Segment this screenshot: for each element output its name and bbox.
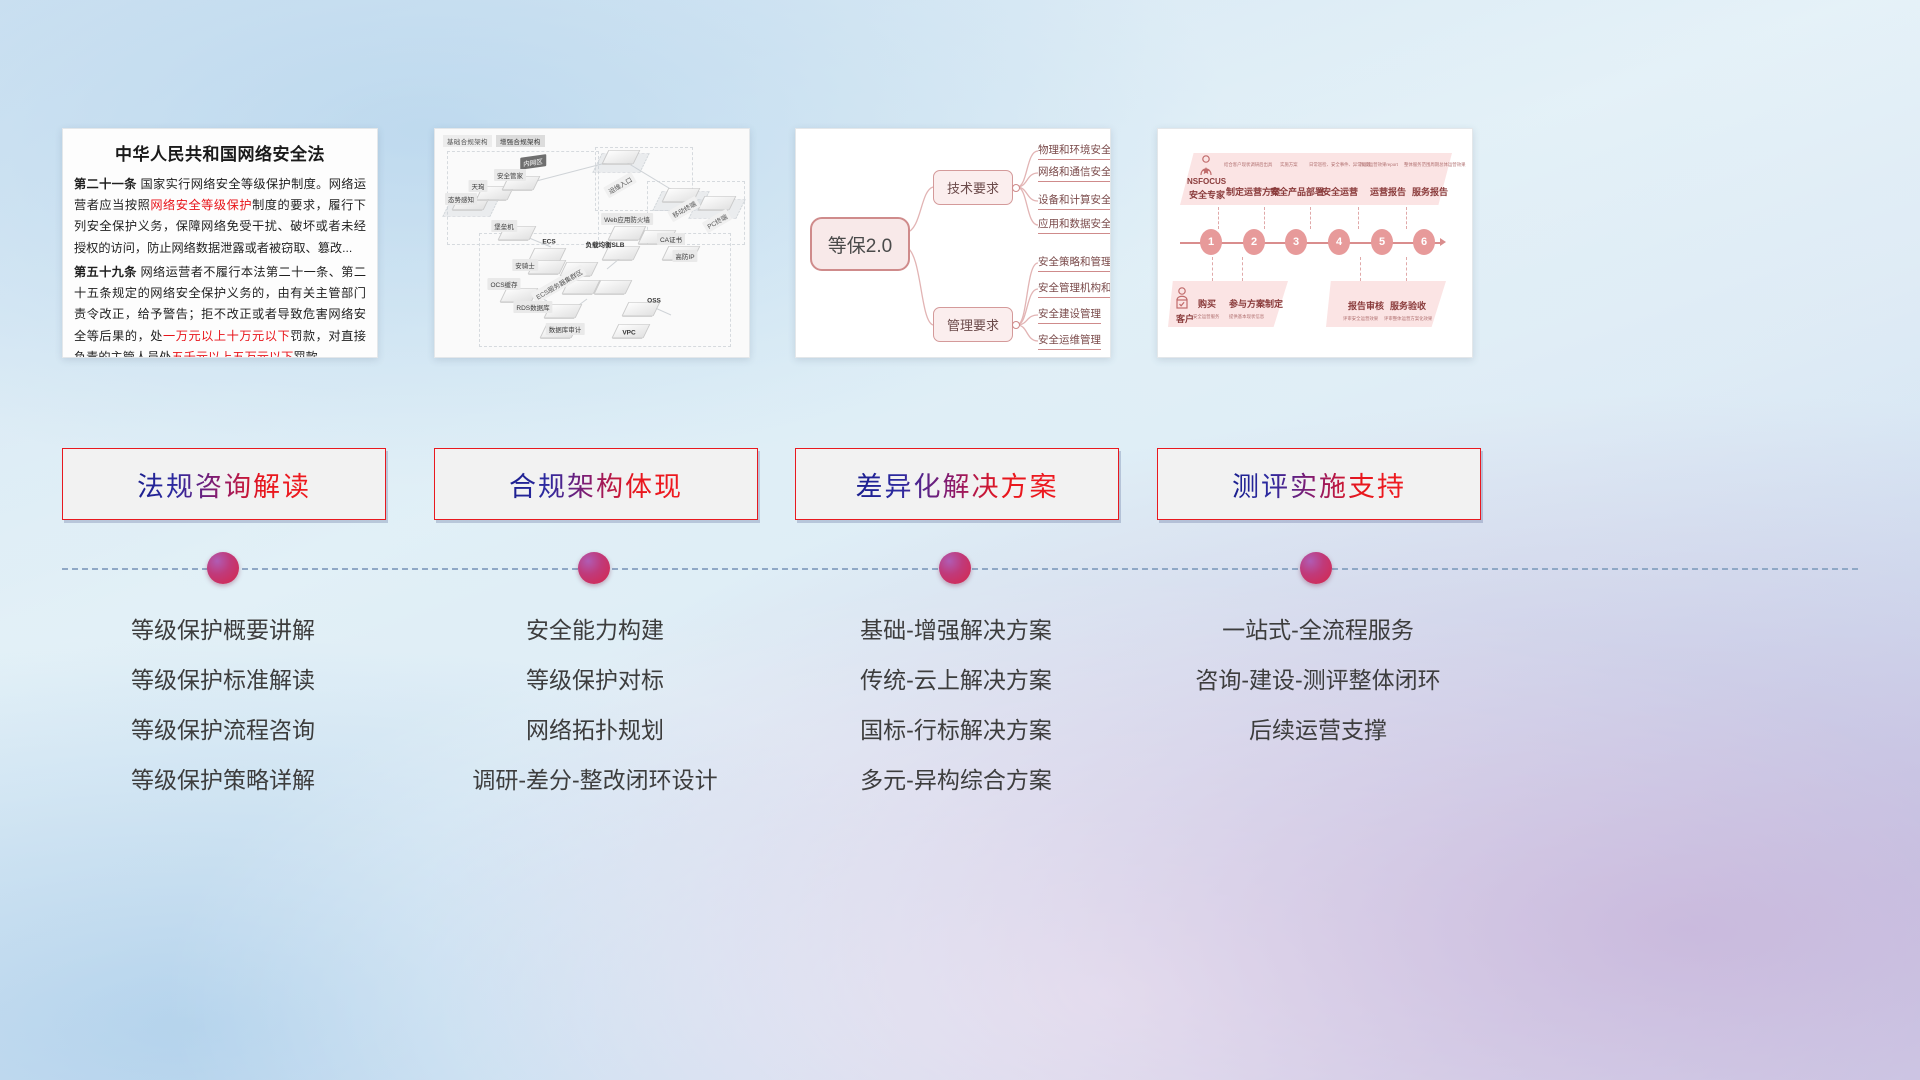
banner-label-2: 合规架构体现	[509, 465, 683, 504]
card-cybersecurity-law: 中华人民共和国网络安全法 第二十一条 国家实行网络安全等级保护制度。网络运营者应…	[62, 128, 378, 358]
card-service-timeline: NSFOCUS 安全专家 结合客户现状调研后出具 制定运营方案 实施方案 安全产…	[1157, 128, 1473, 358]
timeline-step-1[interactable]: 1	[1200, 229, 1222, 255]
architecture-diagram: 基础合规架构增强合规架构	[435, 129, 749, 357]
connector-dash-7	[1242, 257, 1244, 281]
banner-compliance-architecture[interactable]: 合规架构体现	[434, 448, 758, 520]
list-item: 后续运营支撑	[1128, 705, 1508, 755]
expert-sub-2: 实施方案	[1280, 162, 1298, 168]
article-number-59: 第五十九条	[74, 265, 137, 279]
customer-sub-1: 安全运营服务	[1193, 314, 1219, 320]
connector-dash-5	[1406, 207, 1408, 229]
node-label-ocs-cache: OCS缓存	[487, 278, 520, 290]
mindmap-leaf-construction-mgmt: 安全建设管理	[1038, 306, 1101, 324]
expert-sub-4: 阶段运营效果report	[1360, 162, 1398, 168]
mindmap-root: 等保2.0	[810, 217, 910, 271]
expert-big-2: 安全产品部署	[1270, 185, 1324, 198]
mindmap-leaf-physical-env: 物理和环境安全	[1038, 142, 1111, 160]
expert-big-5: 服务报告	[1412, 185, 1448, 198]
connector-dash-3	[1310, 207, 1312, 229]
connector-dash-9	[1406, 257, 1408, 281]
axis-marker-4	[1300, 552, 1332, 584]
article-21-highlight: 网络安全等级保护	[150, 198, 252, 212]
list-item: 安全能力构建	[405, 605, 785, 655]
banner-differentiated-solution[interactable]: 差异化解决方案	[795, 448, 1119, 520]
list-item: 一站式-全流程服务	[1128, 605, 1508, 655]
list-item: 基础-增强解决方案	[766, 605, 1146, 655]
node-label-tianxun: 天珣	[469, 180, 488, 192]
list-item: 多元-异构综合方案	[766, 755, 1146, 805]
mindmap: 等保2.0 技术要求 管理要求 物理和环境安全 网络和通信安全 设备和计算安全 …	[796, 129, 1110, 357]
law-article-59: 第五十九条 网络运营者不履行本法第二十一条、第二十五条规定的网络安全保护义务的，…	[74, 262, 366, 358]
law-body: 第二十一条 国家实行网络安全等级保护制度。网络运营者应当按照网络安全等级保护制度…	[63, 174, 377, 358]
mindmap-leaf-app-data: 应用和数据安全	[1038, 216, 1111, 234]
connector-dash-1	[1218, 207, 1220, 229]
card-compliance-architecture: 基础合规架构增强合规架构	[434, 128, 750, 358]
connector-dash-4	[1358, 207, 1360, 229]
collapse-toggle-technical-icon[interactable]	[1012, 184, 1020, 192]
card-dengbao-mindmap: 等保2.0 技术要求 管理要求 物理和环境安全 网络和通信安全 设备和计算安全 …	[795, 128, 1111, 358]
article-59-after: 罚款。	[293, 350, 330, 358]
banner-label-4: 测评实施支持	[1232, 465, 1406, 504]
banner-label-3: 差异化解决方案	[856, 465, 1059, 504]
connector-dash-8	[1360, 257, 1362, 281]
timeline-arrow-icon	[1440, 238, 1446, 246]
customer-big-4: 服务验收	[1390, 299, 1426, 312]
node-label-anti-ddos-ip: 高防IP	[672, 250, 697, 262]
expert-sub-1: 结合客户现状调研后出具	[1224, 162, 1272, 168]
mindmap-leaf-device-compute: 设备和计算安全	[1038, 192, 1111, 210]
article-number-21: 第二十一条	[74, 177, 137, 191]
timeline-step-5[interactable]: 5	[1371, 229, 1393, 255]
mindmap-leaf-org-personnel: 安全管理机构和人员	[1038, 280, 1111, 298]
list-item: 网络拓扑规划	[405, 705, 785, 755]
mindmap-leaf-policy-system: 安全策略和管理制度	[1038, 254, 1111, 272]
list-item: 等级保护策略详解	[33, 755, 413, 805]
law-article-21: 第二十一条 国家实行网络安全等级保护制度。网络运营者应当按照网络安全等级保护制度…	[74, 174, 366, 259]
expert-sub-5: 整体服务范围周期总体运营效果	[1404, 162, 1465, 168]
customer-sub-2: 提供基本现状信息	[1229, 314, 1264, 320]
mindmap-branch-management: 管理要求	[933, 307, 1013, 342]
article-59-highlight-1: 一万元以上十万元以下	[163, 329, 290, 343]
customer-big-2: 参与方案制定	[1229, 297, 1283, 310]
article-59-highlight-2: 五千元以上五万元以下	[172, 350, 294, 358]
list-item: 等级保护对标	[405, 655, 785, 705]
list-item: 等级保护标准解读	[33, 655, 413, 705]
banner-evaluation-support[interactable]: 测评实施支持	[1157, 448, 1481, 520]
connector-dash-6	[1212, 257, 1214, 281]
mindmap-leaf-ops-mgmt: 安全运维管理	[1038, 332, 1101, 350]
customer-big-1: 购买	[1198, 297, 1216, 310]
list-item: 等级保护流程咨询	[33, 705, 413, 755]
list-item: 传统-云上解决方案	[766, 655, 1146, 705]
axis-marker-3	[939, 552, 971, 584]
detail-column-2: 安全能力构建 等级保护对标 网络拓扑规划 调研-差分-整改闭环设计	[405, 605, 785, 805]
list-item: 国标-行标解决方案	[766, 705, 1146, 755]
node-label-waf: Web应用防火墙	[601, 213, 653, 225]
node-label-vpc: VPC	[619, 329, 638, 338]
expert-big-3: 安全运营	[1322, 185, 1358, 198]
expert-role-line2: 安全专家	[1189, 188, 1225, 201]
mindmap-leaf-network-comm: 网络和通信安全	[1038, 164, 1111, 182]
node-label-database-audit: 数据库审计	[546, 323, 585, 335]
node-label-rds-database: RDS数据库	[513, 301, 552, 313]
customer-sub-3: 评审安全运营效果	[1343, 316, 1378, 322]
expert-person-icon	[1198, 155, 1214, 177]
detail-column-3: 基础-增强解决方案 传统-云上解决方案 国标-行标解决方案 多元-异构综合方案	[766, 605, 1146, 805]
node-label-slb: 负载均衡SLB	[583, 238, 628, 250]
mindmap-branch-technical: 技术要求	[933, 170, 1013, 205]
customer-person-icon	[1174, 287, 1190, 311]
customer-sub-4: 评审整体运营方案化效果	[1384, 316, 1432, 322]
timeline-step-6[interactable]: 6	[1413, 229, 1435, 255]
timeline-step-2[interactable]: 2	[1243, 229, 1265, 255]
detail-column-4: 一站式-全流程服务 咨询-建设-测评整体闭环 后续运营支撑	[1128, 605, 1508, 755]
node-label-situation-awareness: 态势感知	[445, 193, 477, 205]
node-label-bastion-host: 堡垒机	[491, 220, 517, 232]
expert-role-line1: NSFOCUS	[1187, 177, 1226, 186]
node-label-ca-cert: CA证书	[657, 233, 685, 245]
connector-dash-2	[1264, 207, 1266, 229]
node-label-oss: OSS	[644, 297, 664, 306]
axis-marker-1	[207, 552, 239, 584]
law-title: 中华人民共和国网络安全法	[63, 140, 377, 165]
banner-regulation-consulting[interactable]: 法规咨询解读	[62, 448, 386, 520]
list-item: 等级保护概要讲解	[33, 605, 413, 655]
list-item: 调研-差分-整改闭环设计	[405, 755, 785, 805]
detail-column-1: 等级保护概要讲解 等级保护标准解读 等级保护流程咨询 等级保护策略详解	[33, 605, 413, 805]
node-label-ecs: ECS	[539, 238, 558, 247]
node-label-anqishi: 安骑士	[512, 259, 538, 271]
list-item: 咨询-建设-测评整体闭环	[1128, 655, 1508, 705]
timeline-step-3[interactable]: 3	[1285, 229, 1307, 255]
expert-big-4: 运营报告	[1370, 185, 1406, 198]
customer-big-3: 报告审核	[1348, 299, 1384, 312]
service-timeline: NSFOCUS 安全专家 结合客户现状调研后出具 制定运营方案 实施方案 安全产…	[1158, 129, 1472, 357]
timeline-step-4[interactable]: 4	[1328, 229, 1350, 255]
node-label-security-butler: 安全管家	[494, 169, 526, 181]
axis-marker-2	[578, 552, 610, 584]
customer-role-label: 客户	[1176, 312, 1194, 325]
collapse-toggle-management-icon[interactable]	[1012, 321, 1020, 329]
banner-label-1: 法规咨询解读	[137, 465, 311, 504]
